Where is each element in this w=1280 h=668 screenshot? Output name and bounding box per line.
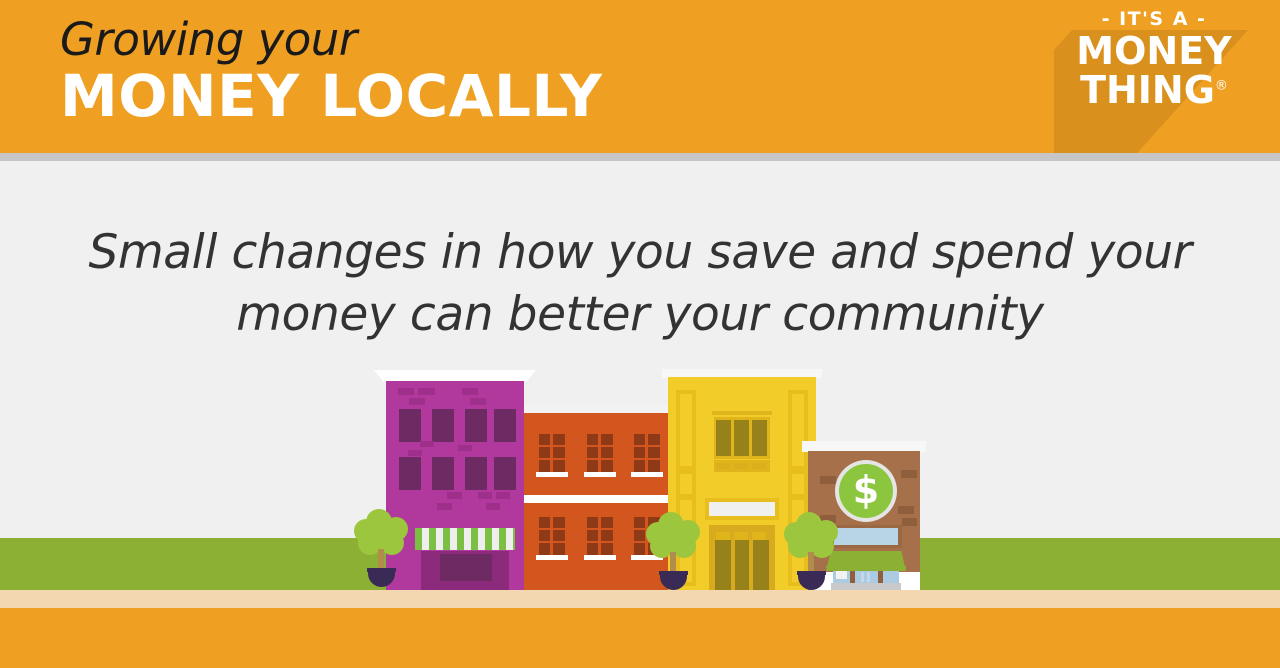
logo-thing-text: THING: [1080, 68, 1215, 112]
yellow-pilaster-inset: [792, 474, 804, 494]
logo-tagline: - IT'S A -: [1054, 8, 1254, 31]
yellow-upper-pane: [734, 420, 749, 456]
logo-word-money: MONEY: [1054, 32, 1254, 71]
yellow-door-mullion: [749, 540, 753, 590]
purple-brick-accent: [458, 445, 472, 451]
bank-sign-band: [834, 528, 898, 545]
awning-scallop-edge: [415, 544, 515, 554]
orange-building-floor-band: [524, 495, 670, 503]
purple-brick-accent: [409, 398, 425, 405]
purple-brick-accent: [462, 388, 478, 395]
yellow-upper-window-header: [712, 411, 772, 415]
tree-right: [782, 512, 840, 590]
dollar-badge: $: [839, 464, 893, 518]
slide-root: Growing your MONEY LOCALLY - IT'S A - MO…: [0, 0, 1280, 668]
striped-awning: [415, 528, 515, 554]
yellow-upper-pane: [752, 420, 767, 456]
orange-window: [539, 434, 565, 472]
logo-word-thing: THING®: [1054, 71, 1254, 110]
yellow-upper-pane: [716, 420, 731, 456]
purple-window: [399, 409, 421, 442]
orange-window: [587, 434, 613, 472]
purple-brick-accent: [496, 492, 510, 499]
purple-brick-accent: [418, 388, 435, 395]
yellow-pilaster-inset: [680, 474, 692, 494]
purple-brick-accent: [408, 450, 422, 456]
yellow-pilaster-inset: [680, 394, 692, 466]
orange-window: [539, 517, 565, 555]
orange-window-sill: [584, 555, 616, 560]
bank-entry-step: [831, 583, 901, 590]
yellow-sign-band: [709, 502, 775, 516]
tree-pot: [660, 572, 687, 590]
purple-brick-accent: [486, 503, 500, 510]
yellow-pilaster-inset: [792, 394, 804, 466]
purple-brick-accent: [478, 492, 492, 499]
bank-brick-accent: [820, 476, 836, 484]
bank-brick-accent: [902, 518, 917, 526]
purple-storefront-window: [440, 554, 492, 581]
tree-pot: [798, 572, 825, 590]
purple-window: [494, 457, 516, 490]
orange-window: [587, 517, 613, 555]
dollar-sign-icon: $: [853, 471, 879, 509]
purple-window: [494, 409, 516, 442]
purple-brick-accent: [420, 441, 434, 447]
orange-window-sill: [584, 472, 616, 477]
orange-window-sill: [631, 472, 663, 477]
purple-window: [399, 457, 421, 490]
bank-brick-accent: [901, 470, 917, 478]
purple-window: [465, 457, 487, 490]
tree-pot: [368, 569, 395, 587]
yellow-transom-pane: [716, 463, 730, 469]
purple-brick-accent: [398, 388, 414, 395]
logo-text: - IT'S A - MONEY THING®: [1054, 8, 1254, 109]
purple-window: [465, 409, 487, 442]
orange-window-sill: [536, 555, 568, 560]
yellow-transom-pane: [752, 463, 766, 469]
tree-left: [352, 509, 410, 587]
registered-trademark-icon: ®: [1215, 78, 1228, 93]
yellow-transom-pane: [734, 463, 748, 469]
purple-brick-accent: [437, 503, 452, 510]
bank-brick-accent: [898, 506, 914, 514]
orange-window-sill: [536, 472, 568, 477]
orange-window: [634, 434, 660, 472]
yellow-door-mullion: [731, 540, 735, 590]
purple-window: [432, 409, 454, 442]
yellow-door: [715, 540, 769, 590]
purple-window: [432, 457, 454, 490]
tree-middle: [644, 512, 702, 590]
purple-brick-accent: [470, 398, 486, 405]
purple-brick-accent: [447, 492, 462, 499]
